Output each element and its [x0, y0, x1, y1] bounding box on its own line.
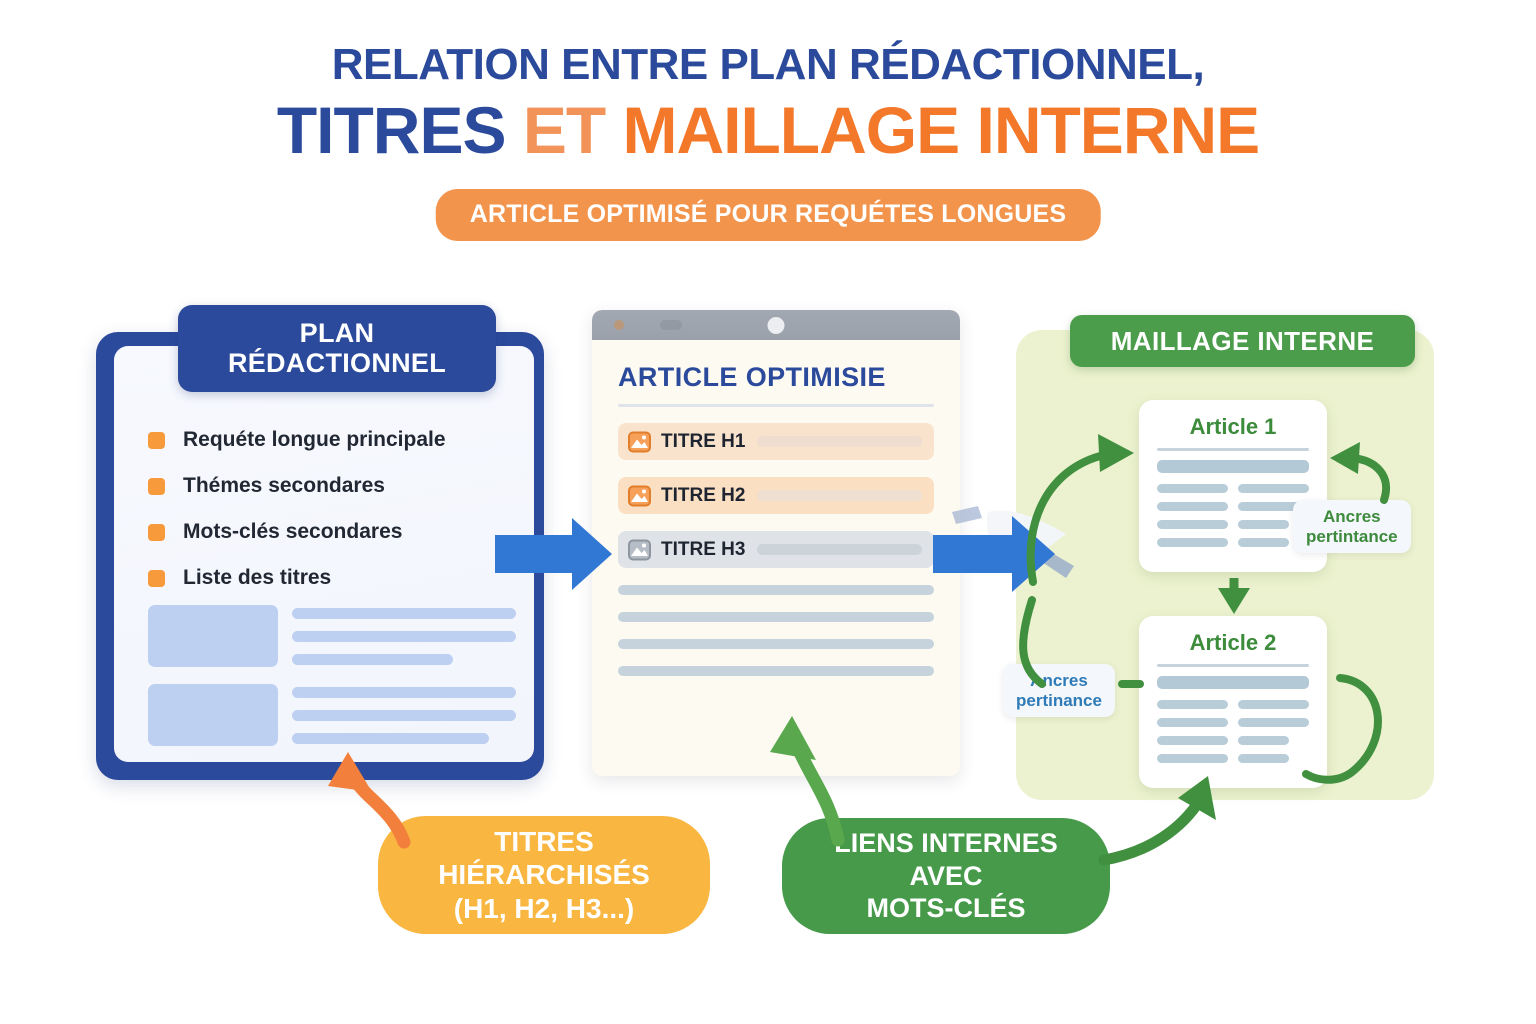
plan-header-line1: PLAN: [300, 319, 375, 349]
plan-header-line2: RÉDACTIONNEL: [228, 349, 446, 379]
list-item-label: Requéte longue principale: [183, 428, 446, 452]
article-placeholder-lines: [618, 585, 934, 676]
article-card-hero-bar: [1157, 676, 1309, 689]
titre-row-h1: TITRE H1: [618, 423, 934, 460]
placeholder-image: [148, 605, 278, 667]
list-item: Liste des titres: [148, 555, 528, 601]
placeholder-line: [292, 654, 453, 665]
titre-placeholder-bar: [757, 436, 922, 447]
article-divider: [618, 404, 934, 407]
placeholder-line: [1157, 754, 1228, 763]
anchor-chip-green: Ancres pertintance: [1293, 500, 1411, 553]
titre-label: TITRE H2: [661, 485, 745, 507]
topbar-orange-dot-icon: [614, 320, 624, 330]
list-item: Mots-clés secondares: [148, 509, 528, 555]
image-orange-icon: [627, 431, 652, 453]
pill-liens-internes: LIENS INTERNES AVEC MOTS-CLÉS: [782, 818, 1110, 934]
image-gray-icon: [627, 539, 652, 561]
article-card-column: [1238, 700, 1309, 763]
article-card-columns: [1157, 484, 1309, 547]
page-title-line2: TITRES ET MAILLAGE INTERNE: [0, 92, 1536, 168]
list-item-label: Mots-clés secondares: [183, 520, 402, 544]
placeholder-line: [1238, 700, 1309, 709]
list-item: Thémes secondares: [148, 463, 528, 509]
article-card-2: Article 2: [1139, 616, 1327, 788]
placeholder-line: [1157, 538, 1228, 547]
subtitle-badge: ARTICLE OPTIMISÉ POUR REQUÉTES LONGUES: [436, 189, 1101, 241]
list-item-label: Thémes secondares: [183, 474, 385, 498]
page-title-titres: TITRES: [277, 93, 523, 167]
pill-line-3: MOTS-CLÉS: [867, 892, 1026, 924]
article-card-divider: [1157, 448, 1309, 451]
placeholder-line: [1238, 484, 1309, 493]
placeholder-line: [1157, 520, 1228, 529]
plan-redactionnel-header: PLAN RÉDACTIONNEL: [178, 305, 496, 392]
titre-label: TITRE H1: [661, 431, 745, 453]
article-optimise-panel: ARTICLE OPTIMISIE TITRE H1: [592, 310, 960, 776]
browser-topbar: [592, 310, 960, 340]
titre-row-h2: TITRE H2: [618, 477, 934, 514]
anchor-chip-line1: Ancres: [1016, 671, 1102, 691]
pill-line-3: (H1, H2, H3...): [454, 892, 634, 926]
list-item-label: Liste des titres: [183, 566, 331, 590]
article-heading: ARTICLE OPTIMISIE: [618, 362, 934, 393]
pill-line-2: AVEC: [909, 860, 982, 892]
placeholder-line: [1238, 754, 1289, 763]
plan-placeholder-content: [148, 605, 516, 763]
page-title-line1: RELATION ENTRE PLAN RÉDACTIONNEL,: [0, 40, 1536, 90]
article-card-column: [1157, 700, 1228, 763]
placeholder-line: [1238, 718, 1309, 727]
placeholder-line: [1157, 700, 1228, 709]
maillage-interne-header: MAILLAGE INTERNE: [1070, 315, 1415, 367]
placeholder-image: [148, 684, 278, 746]
infographic-canvas: RELATION ENTRE PLAN RÉDACTIONNEL, TITRES…: [0, 0, 1536, 1024]
placeholder-block: [148, 605, 516, 667]
placeholder-line: [618, 639, 934, 649]
square-bullet-icon: [148, 570, 165, 587]
anchor-chip-line1: Ancres: [1306, 507, 1398, 527]
pill-titres-hierarchises: TITRES HIÉRARCHISÉS (H1, H2, H3...): [378, 816, 710, 934]
placeholder-line: [1157, 736, 1228, 745]
placeholder-line: [1238, 520, 1289, 529]
placeholder-line: [292, 608, 516, 619]
camera-circle-icon: [768, 317, 785, 334]
article-card-title: Article 1: [1157, 414, 1309, 440]
square-bullet-icon: [148, 432, 165, 449]
placeholder-line: [1157, 502, 1228, 511]
titre-placeholder-bar: [757, 490, 922, 501]
article-card-divider: [1157, 664, 1309, 667]
square-bullet-icon: [148, 478, 165, 495]
plan-bullet-list: Requéte longue principale Thémes seconda…: [148, 417, 528, 601]
placeholder-line: [618, 612, 934, 622]
placeholder-line: [618, 585, 934, 595]
placeholder-lines: [292, 605, 516, 667]
article-card-columns: [1157, 700, 1309, 763]
placeholder-line: [292, 687, 516, 698]
image-orange-icon: [627, 485, 652, 507]
pill-line-2: HIÉRARCHISÉS: [438, 858, 650, 892]
list-item: Requéte longue principale: [148, 417, 528, 463]
titre-label: TITRE H3: [661, 539, 745, 561]
anchor-chip-line2: pertintance: [1306, 527, 1398, 547]
placeholder-line: [292, 710, 516, 721]
placeholder-line: [292, 733, 489, 744]
anchor-chip-blue: Ancres pertinance: [1003, 664, 1115, 717]
placeholder-line: [1157, 484, 1228, 493]
square-bullet-icon: [148, 524, 165, 541]
topbar-gray-pill-icon: [660, 320, 682, 330]
article-card-title: Article 2: [1157, 630, 1309, 656]
titre-placeholder-bar: [757, 544, 922, 555]
pill-line-1: LIENS INTERNES: [834, 827, 1058, 859]
pill-line-1: TITRES: [494, 825, 594, 859]
article-card-hero-bar: [1157, 460, 1309, 473]
placeholder-lines: [292, 684, 516, 746]
anchor-chip-line2: pertinance: [1016, 691, 1102, 711]
page-title-maillage: MAILLAGE INTERNE: [623, 93, 1260, 167]
placeholder-line: [1157, 718, 1228, 727]
placeholder-line: [618, 666, 934, 676]
placeholder-line: [292, 631, 516, 642]
page-title-et: ET: [523, 93, 623, 167]
placeholder-block: [148, 684, 516, 746]
article-card-column: [1157, 484, 1228, 547]
article-body: ARTICLE OPTIMISIE TITRE H1: [592, 340, 960, 776]
titre-row-h3: TITRE H3: [618, 531, 934, 568]
placeholder-line: [1238, 538, 1289, 547]
placeholder-line: [1238, 736, 1289, 745]
